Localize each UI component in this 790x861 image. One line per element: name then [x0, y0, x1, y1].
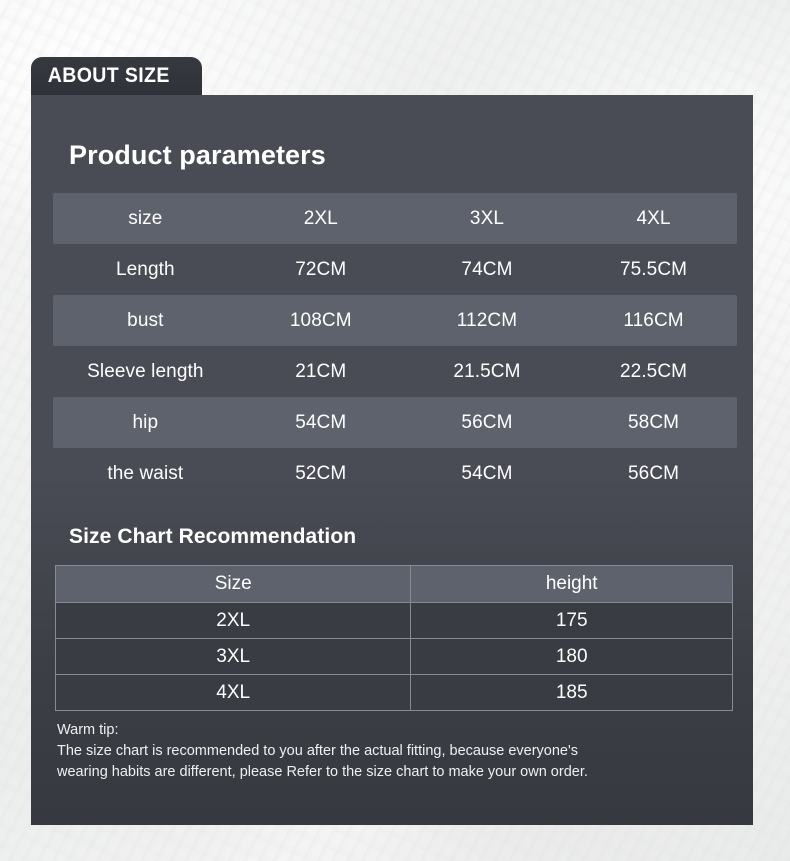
table-row: hip 54CM 56CM 58CM — [53, 397, 737, 448]
cell-hip-2xl: 54CM — [238, 397, 404, 448]
row-label-hip: hip — [53, 397, 238, 448]
table-row: 2XL 175 — [56, 603, 733, 639]
cell-size-4xl: 4XL — [56, 675, 411, 711]
warm-tip: Warm tip: The size chart is recommended … — [57, 720, 697, 783]
row-label-bust: bust — [53, 295, 238, 346]
about-size-tab-label: ABOUT SIZE — [31, 64, 170, 88]
cell-sleeve-length-2xl: 21CM — [238, 346, 404, 397]
cell-height-2xl: 175 — [411, 603, 733, 639]
cell-height-3xl: 180 — [411, 639, 733, 675]
table-header-row: Size height — [56, 566, 733, 603]
table-row: Length 72CM 74CM 75.5CM — [53, 244, 737, 295]
size-info-panel: Product parameters size 2XL 3XL 4XL Leng… — [31, 95, 753, 825]
table-row: Sleeve length 21CM 21.5CM 22.5CM — [53, 346, 737, 397]
table-header-row: size 2XL 3XL 4XL — [53, 193, 737, 244]
cell-bust-4xl: 116CM — [570, 295, 737, 346]
table-row: 4XL 185 — [56, 675, 733, 711]
cell-bust-3xl: 112CM — [404, 295, 570, 346]
table-row: bust 108CM 112CM 116CM — [53, 295, 737, 346]
product-parameters-table: size 2XL 3XL 4XL Length 72CM 74CM 75.5CM… — [53, 193, 737, 499]
about-size-tab[interactable]: ABOUT SIZE — [31, 57, 202, 95]
header-cell-size: Size — [56, 566, 411, 603]
cell-length-4xl: 75.5CM — [570, 244, 737, 295]
table-row: the waist 52CM 54CM 56CM — [53, 448, 737, 499]
cell-bust-2xl: 108CM — [238, 295, 404, 346]
cell-length-3xl: 74CM — [404, 244, 570, 295]
header-cell-size-3xl: 3XL — [404, 193, 570, 244]
warm-tip-line-2: wearing habits are different, please Ref… — [57, 762, 697, 783]
cell-the-waist-4xl: 56CM — [570, 448, 737, 499]
header-cell-size-2xl: 2XL — [238, 193, 404, 244]
cell-the-waist-2xl: 52CM — [238, 448, 404, 499]
warm-tip-heading: Warm tip: — [57, 720, 697, 741]
header-cell-measure: size — [53, 193, 238, 244]
row-label-length: Length — [53, 244, 238, 295]
cell-sleeve-length-3xl: 21.5CM — [404, 346, 570, 397]
cell-length-2xl: 72CM — [238, 244, 404, 295]
row-label-the-waist: the waist — [53, 448, 238, 499]
row-label-sleeve-length: Sleeve length — [53, 346, 238, 397]
cell-hip-4xl: 58CM — [570, 397, 737, 448]
warm-tip-line-1: The size chart is recommended to you aft… — [57, 741, 697, 762]
size-chart-recommendation-title: Size Chart Recommendation — [69, 525, 356, 549]
cell-height-4xl: 185 — [411, 675, 733, 711]
header-cell-height: height — [411, 566, 733, 603]
cell-the-waist-3xl: 54CM — [404, 448, 570, 499]
cell-size-2xl: 2XL — [56, 603, 411, 639]
table-row: 3XL 180 — [56, 639, 733, 675]
cell-sleeve-length-4xl: 22.5CM — [570, 346, 737, 397]
cell-hip-3xl: 56CM — [404, 397, 570, 448]
size-recommendation-table: Size height 2XL 175 3XL 180 4XL 185 — [55, 565, 733, 711]
page-title: Product parameters — [69, 140, 326, 171]
cell-size-3xl: 3XL — [56, 639, 411, 675]
header-cell-size-4xl: 4XL — [570, 193, 737, 244]
